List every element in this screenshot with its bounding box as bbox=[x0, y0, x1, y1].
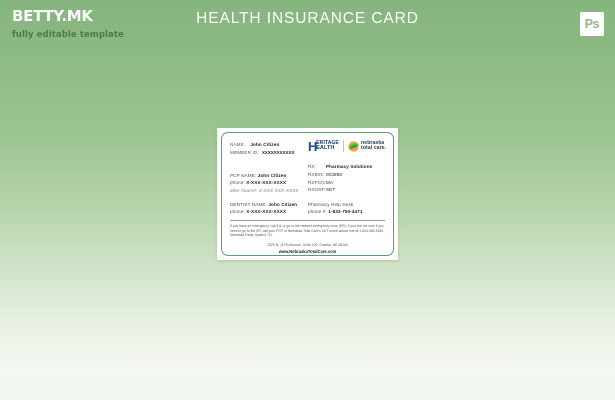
pcp-after-hours-label: after hours#: bbox=[230, 188, 257, 193]
pcp-name-row: PCP NAME: John Citizen bbox=[230, 172, 299, 179]
pcp-block: PCP NAME: John Citizen phone: X-XXX-XXX-… bbox=[230, 172, 299, 194]
card-website: www.NebraskaTotalCare.com bbox=[222, 249, 393, 254]
help-desk-title: Pharmacy Help Desk bbox=[308, 201, 363, 208]
pcp-name-value: John Citizen bbox=[258, 173, 287, 178]
rxpcn-label: RXPCN: bbox=[308, 179, 326, 187]
emergency-fine-print: If you have an emergency, call 911 or go… bbox=[230, 224, 385, 238]
pcp-phone-label: phone: bbox=[230, 180, 245, 185]
member-name-row: NAME:John Citizen bbox=[230, 142, 279, 147]
rxbin-value: 003858 bbox=[326, 171, 342, 179]
page-header: BETTY.MK fully editable template HEALTH … bbox=[0, 0, 615, 47]
member-id-label: MEMBER ID: bbox=[230, 150, 259, 155]
card-divider bbox=[230, 220, 385, 221]
help-desk-phone-row: phone #: 1-833-750-4471 bbox=[308, 208, 363, 215]
dentist-name-value: John Citizen bbox=[268, 202, 297, 207]
leaf-swoosh-icon bbox=[348, 141, 359, 152]
member-name-label: NAME: bbox=[230, 142, 245, 147]
rxbin-label: RXBIN: bbox=[308, 171, 326, 179]
rxpcn-value: MA bbox=[326, 179, 333, 187]
help-desk-phone-label: phone #: bbox=[308, 209, 327, 214]
insurance-card: NAME:John Citizen MEMBER ID:XXXXXXXXXXX … bbox=[217, 128, 398, 260]
pcp-phone-value: X-XXX-XXX-XXXX bbox=[246, 180, 286, 185]
heritage-word-bottom: EALTH bbox=[316, 146, 339, 151]
logo-divider bbox=[343, 140, 344, 152]
ntc-line-2: total care. bbox=[361, 146, 386, 151]
page-title: HEALTH INSURANCE CARD bbox=[0, 10, 615, 28]
dentist-phone-value: X-XXX-XXX-XXXX bbox=[246, 209, 286, 214]
rx-label: RX: bbox=[308, 163, 326, 171]
pharmacy-help-desk-block: Pharmacy Help Desk phone #: 1-833-750-44… bbox=[308, 201, 363, 216]
dentist-block: DENTIST NAME: John Citizen phone: X-XXX-… bbox=[230, 201, 297, 216]
help-desk-phone-value: 1-833-750-4471 bbox=[328, 209, 362, 214]
rxgrp-row: RXGRP: SET bbox=[308, 186, 372, 194]
member-id-row: MEMBER ID:XXXXXXXXXXX bbox=[230, 150, 294, 155]
pcp-after-hours-value: X-XXX-XXX-XXXX bbox=[259, 188, 299, 193]
rx-value: Pharmacy Solutions bbox=[326, 163, 372, 171]
card-logos: H ERITAGE EALTH nebraska tota bbox=[308, 140, 386, 152]
rx-row: RX: Pharmacy Solutions bbox=[308, 163, 372, 171]
dentist-phone-label: phone: bbox=[230, 209, 245, 214]
dentist-name-label: DENTIST NAME: bbox=[230, 202, 267, 207]
rxpcn-row: RXPCN: MA bbox=[308, 179, 372, 187]
pcp-after-hours-row: after hours#: X-XXX-XXX-XXXX bbox=[230, 187, 299, 194]
rxbin-row: RXBIN: 003858 bbox=[308, 171, 372, 179]
heritage-wordmark: ERITAGE EALTH bbox=[316, 141, 339, 151]
pcp-name-label: PCP NAME: bbox=[230, 173, 256, 178]
brand-tagline: fully editable template bbox=[12, 30, 124, 40]
rx-block: RX: Pharmacy Solutions RXBIN: 003858 RXP… bbox=[308, 163, 372, 194]
rxgrp-value: SET bbox=[326, 186, 335, 194]
member-name-value: John Citizen bbox=[250, 142, 279, 147]
dentist-phone-row: phone: X-XXX-XXX-XXXX bbox=[230, 208, 297, 215]
card-inner-border: NAME:John Citizen MEMBER ID:XXXXXXXXXXX … bbox=[221, 132, 394, 256]
member-id-value: XXXXXXXXXXX bbox=[262, 150, 295, 155]
nebraska-total-care-logo: nebraska total care. bbox=[348, 141, 387, 152]
card-address: 2525 N. 117th Avenue, Suite 100, Omaha, … bbox=[222, 243, 393, 247]
photoshop-icon: Ps bbox=[580, 12, 604, 36]
heritage-health-logo: H ERITAGE EALTH bbox=[308, 141, 339, 152]
dentist-name-row: DENTIST NAME: John Citizen bbox=[230, 201, 297, 208]
pcp-phone-row: phone: X-XXX-XXX-XXXX bbox=[230, 179, 299, 186]
rxgrp-label: RXGRP: bbox=[308, 186, 326, 194]
page-root: BETTY.MK fully editable template HEALTH … bbox=[0, 0, 615, 400]
ntc-wordmark: nebraska total care. bbox=[361, 141, 386, 152]
